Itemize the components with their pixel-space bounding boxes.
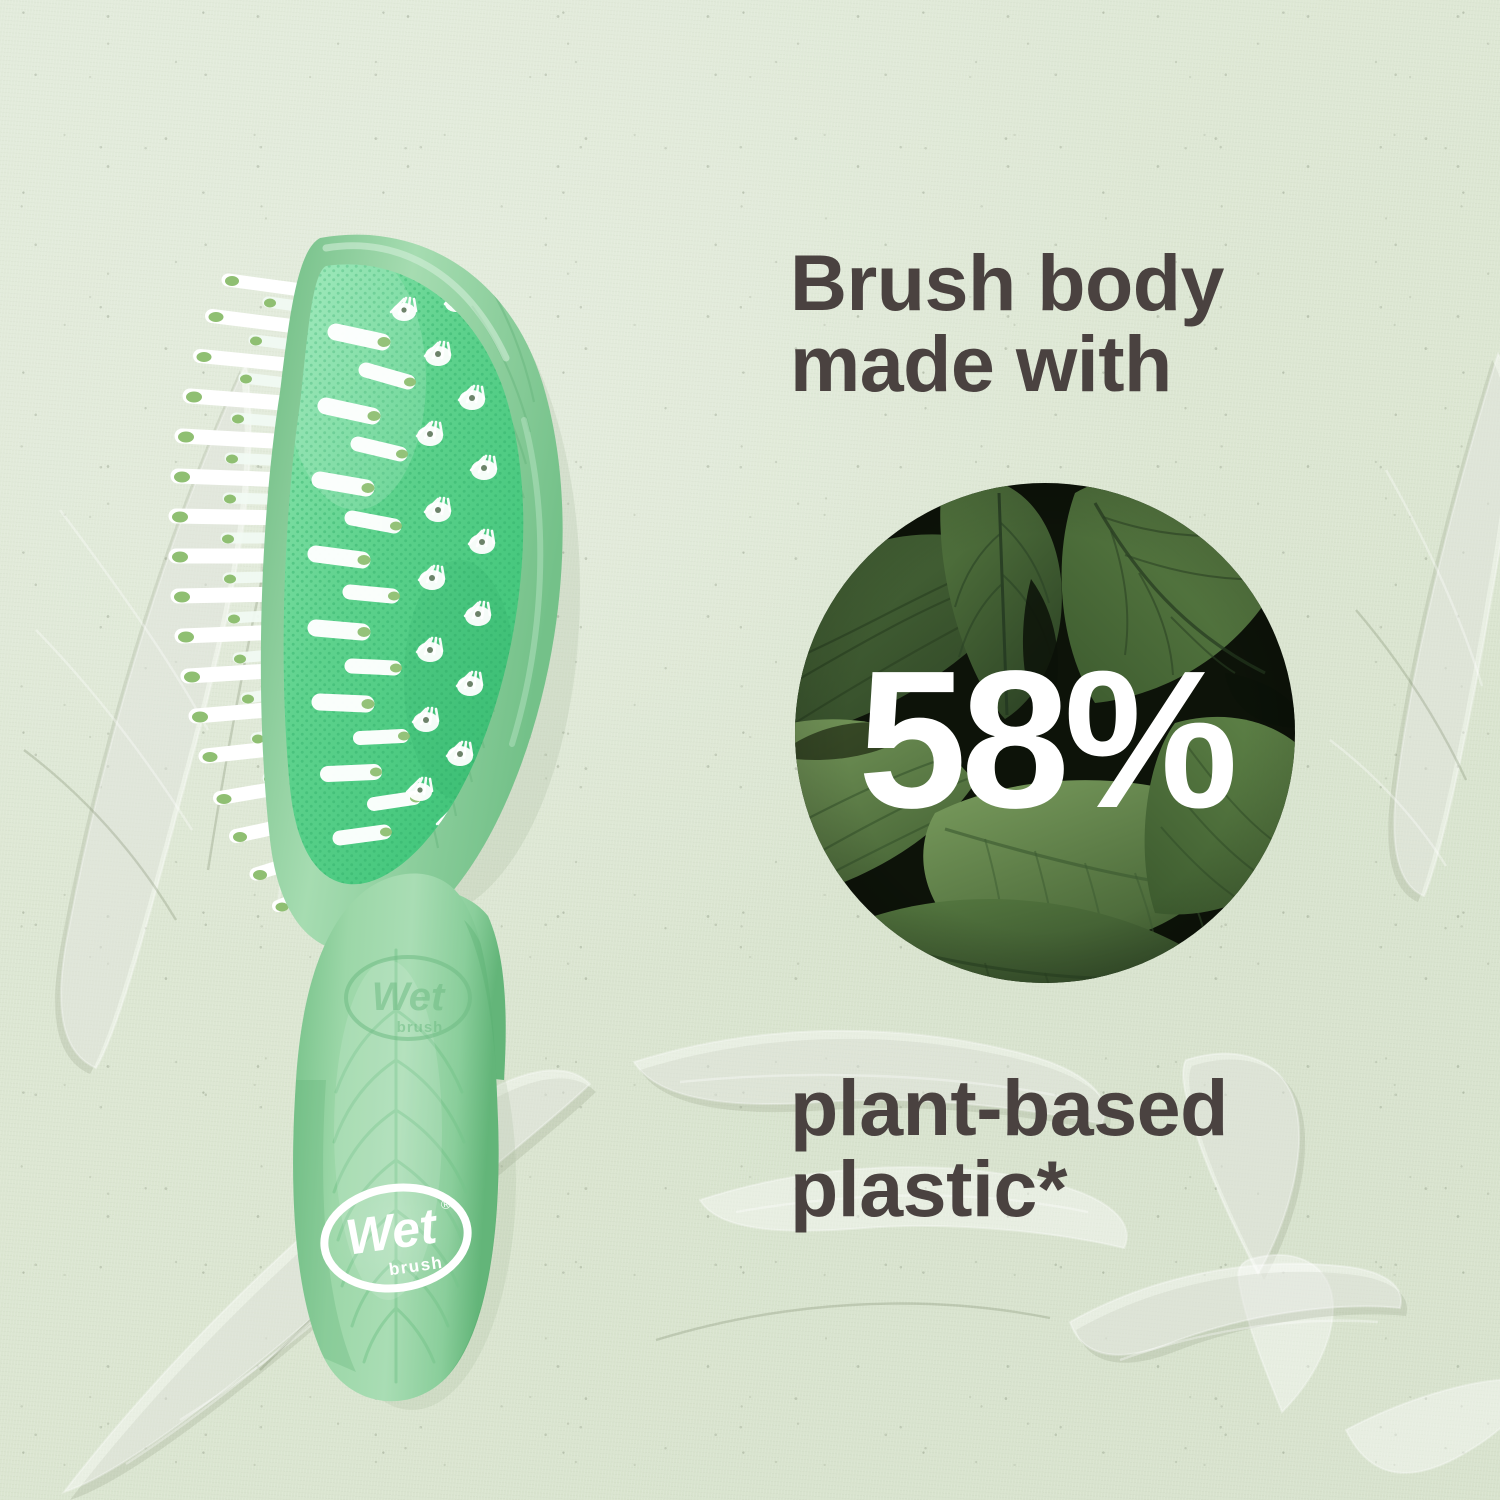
stat-badge-circle: 58% (795, 483, 1295, 983)
embossed-logo-wordmark: Wet (372, 975, 446, 1019)
headline-text: Brush body made with (790, 243, 1224, 404)
product-marketing-image: Wet brush Wet brush ® Brush body made wi… (0, 0, 1500, 1500)
embossed-logo-subtext: brush (397, 1019, 444, 1036)
brush-handle: Wet brush Wet brush ® (293, 873, 508, 1401)
stat-percentage-value: 58% (795, 483, 1295, 983)
product-image-hairbrush: Wet brush Wet brush ® (120, 120, 680, 1420)
subline-text: plant-based plastic* (790, 1068, 1228, 1229)
